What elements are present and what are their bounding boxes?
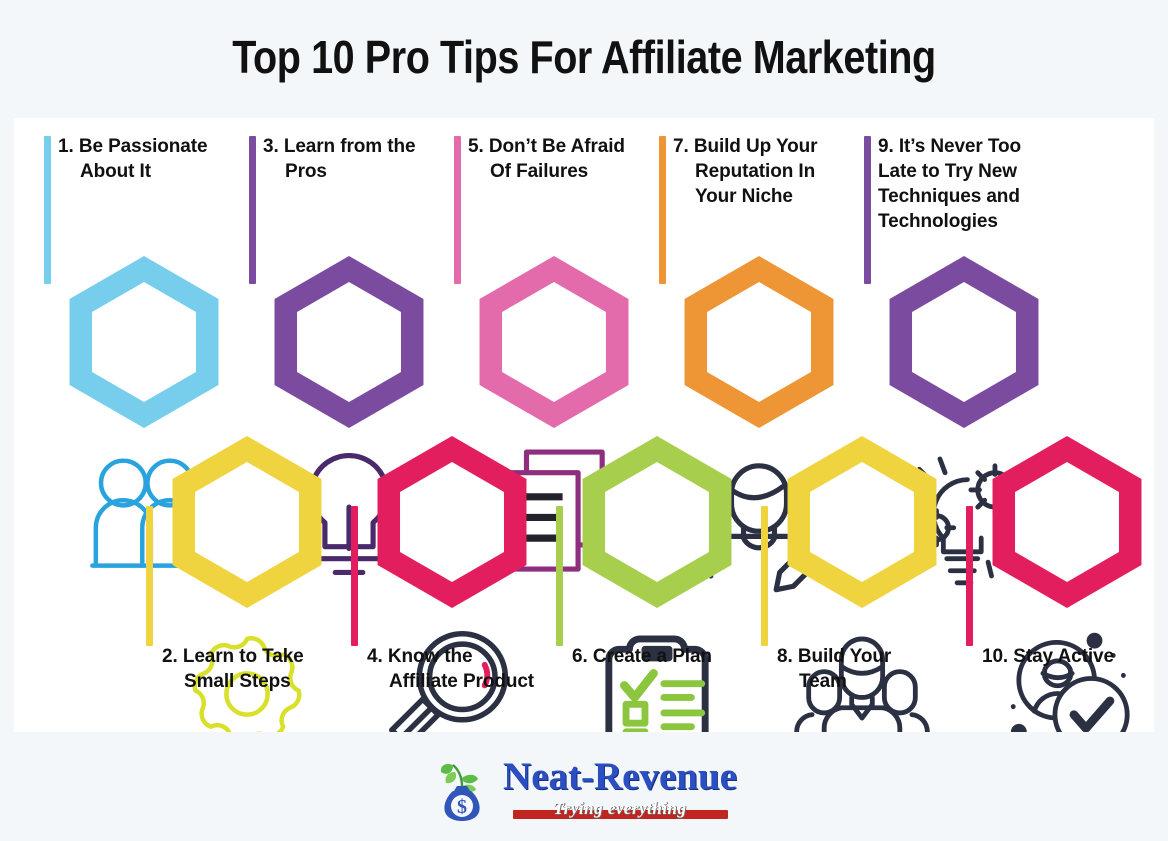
tip-hexagon[interactable] (972, 436, 1162, 608)
tip-label-line: Of Failures (468, 159, 663, 184)
tip-label: 10. Stay Active (982, 644, 1168, 669)
tip-connector-bar (146, 506, 153, 646)
brand-name: Neat-Revenue (503, 757, 737, 796)
tip-label-line: About It (58, 159, 253, 184)
tip-label-line: 8. Build Your (777, 644, 972, 669)
brand-tagline-banner: Trying everything (513, 797, 728, 821)
infographic-canvas: Top 10 Pro Tips For Affiliate Marketing … (0, 0, 1168, 841)
tip-label-line: Pros (263, 159, 458, 184)
tip-connector-bar (966, 506, 973, 646)
tip-hexagon[interactable] (254, 256, 444, 428)
tip-label: 4. Know theAffiliate Product (367, 644, 562, 694)
tip-label-line: Your Niche (673, 184, 868, 209)
tip-hexagon[interactable] (664, 256, 854, 428)
tip-label-line: 4. Know the (367, 644, 562, 669)
footer: $ Neat-Revenue Trying everything (0, 732, 1168, 841)
tip-label: 9. It’s Never TooLate to Try NewTechniqu… (878, 134, 1073, 234)
tip-label-line: 7. Build Up Your (673, 134, 868, 159)
brand-logo-text: Neat-Revenue Trying everything (503, 757, 737, 821)
tip-label: 8. Build YourTeam (777, 644, 972, 694)
tip-label-line: 5. Don’t Be Afraid (468, 134, 663, 159)
tip-connector-bar (351, 506, 358, 646)
tip-hexagon[interactable] (357, 436, 547, 608)
tip-hexagon[interactable] (459, 256, 649, 428)
tip-connector-bar (761, 506, 768, 646)
tip-hexagon[interactable] (767, 436, 957, 608)
brand-tagline: Trying everything (554, 799, 687, 819)
tip-hexagon[interactable] (49, 256, 239, 428)
page-title: Top 10 Pro Tips For Affiliate Marketing (232, 30, 935, 84)
tip-label-line: 9. It’s Never Too (878, 134, 1073, 159)
tip-hexagon[interactable] (869, 256, 1059, 428)
tip-label-line: 6. Create a Plan (572, 644, 767, 669)
tip-label-line: Team (777, 669, 972, 694)
money-bag-plant-icon: $ (431, 756, 493, 822)
tip-label-line: 3. Learn from the (263, 134, 458, 159)
tip-label-line: 10. Stay Active (982, 644, 1168, 669)
tip-label: 2. Learn to TakeSmall Steps (162, 644, 357, 694)
tip-label: 6. Create a Plan (572, 644, 767, 669)
tip-label: 7. Build Up YourReputation InYour Niche (673, 134, 868, 209)
brand-logo[interactable]: $ Neat-Revenue Trying everything (431, 756, 737, 822)
tip-label-line: Affiliate Product (367, 669, 562, 694)
tip-label: 1. Be PassionateAbout It (58, 134, 253, 184)
header: Top 10 Pro Tips For Affiliate Marketing (0, 0, 1168, 113)
tip-hexagon[interactable] (562, 436, 752, 608)
tip-label-line: Reputation In (673, 159, 868, 184)
tips-board: 1. Be PassionateAbout It3. Learn from th… (14, 118, 1154, 732)
tip-hexagon[interactable] (152, 436, 342, 608)
tip-label-line: Technologies (878, 209, 1073, 234)
tip-label-line: 2. Learn to Take (162, 644, 357, 669)
tip-label-line: Late to Try New (878, 159, 1073, 184)
tip-connector-bar (556, 506, 563, 646)
svg-text:$: $ (457, 796, 467, 818)
tip-label-line: 1. Be Passionate (58, 134, 253, 159)
tip-label: 3. Learn from thePros (263, 134, 458, 184)
tip-label: 5. Don’t Be AfraidOf Failures (468, 134, 663, 184)
tip-label-line: Small Steps (162, 669, 357, 694)
tip-label-line: Techniques and (878, 184, 1073, 209)
